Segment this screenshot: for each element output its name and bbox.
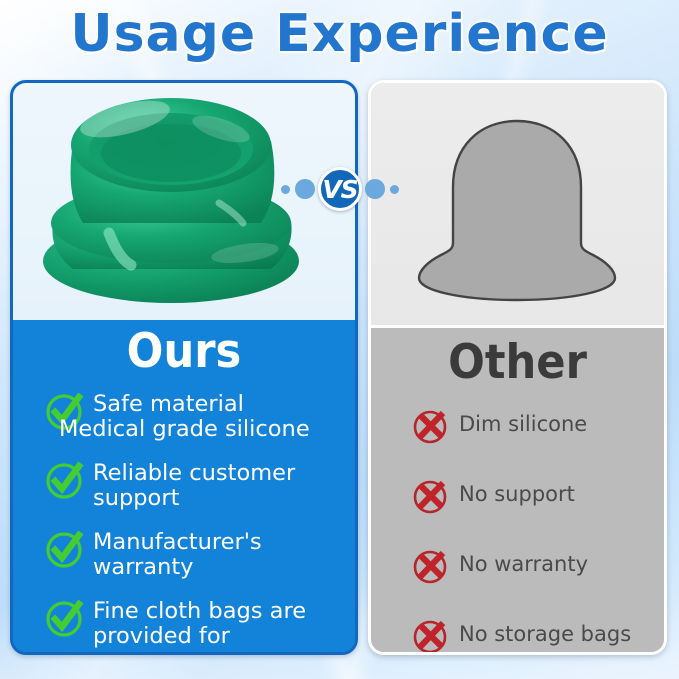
ours-heading: Ours (27, 320, 342, 379)
vs-circle: VS (318, 167, 362, 211)
other-card: Other Dim silicone (368, 80, 667, 655)
list-item-sublabel: Medical grade silicone (59, 417, 310, 442)
list-item-label: Dim silicone (459, 404, 587, 437)
x-circle-icon (409, 544, 453, 588)
x-circle-icon (409, 404, 453, 448)
decorative-dot (365, 179, 385, 199)
other-feature-list: Other Dim silicone (371, 331, 664, 652)
list-item: No support (409, 474, 664, 518)
vs-dots-left (281, 179, 315, 199)
list-item: Safe material Medical grade silicone (43, 389, 355, 442)
list-item: Manufacturer's warranty (43, 527, 355, 580)
ours-feature-list: Ours Safe material Medical grade silicon… (13, 320, 355, 652)
decorative-dot (281, 185, 290, 194)
vs-label: VS (322, 177, 357, 202)
list-item-label: No storage bags (459, 614, 631, 647)
vs-dots-right (365, 179, 399, 199)
decorative-dot (390, 185, 399, 194)
list-item: Fine cloth bags are provided for storage (43, 596, 355, 655)
x-circle-icon (409, 474, 453, 518)
other-product-photo (371, 83, 664, 328)
check-circle-icon (43, 458, 87, 502)
x-circle-icon (409, 614, 453, 655)
check-circle-icon (43, 596, 87, 640)
list-item: Dim silicone (409, 404, 664, 448)
list-item-label: Safe material (93, 391, 244, 417)
decorative-dot (295, 179, 315, 199)
list-item-label: No support (459, 474, 575, 507)
list-item-label: Manufacturer's warranty (93, 527, 355, 580)
list-item: No warranty (409, 544, 664, 588)
other-heading: Other (383, 331, 653, 390)
page-title: Usage Experience (0, 4, 679, 64)
list-item-label: Reliable customer support (93, 458, 308, 511)
list-item: Reliable customer support (43, 458, 355, 511)
gray-cupping-cup-silhouette-icon (371, 83, 664, 325)
list-item: No storage bags (409, 614, 664, 655)
check-circle-icon (43, 527, 87, 571)
list-item-label: Fine cloth bags are provided for storage (93, 596, 308, 655)
vs-badge: VS (288, 167, 392, 211)
list-item-label: No warranty (459, 544, 588, 577)
